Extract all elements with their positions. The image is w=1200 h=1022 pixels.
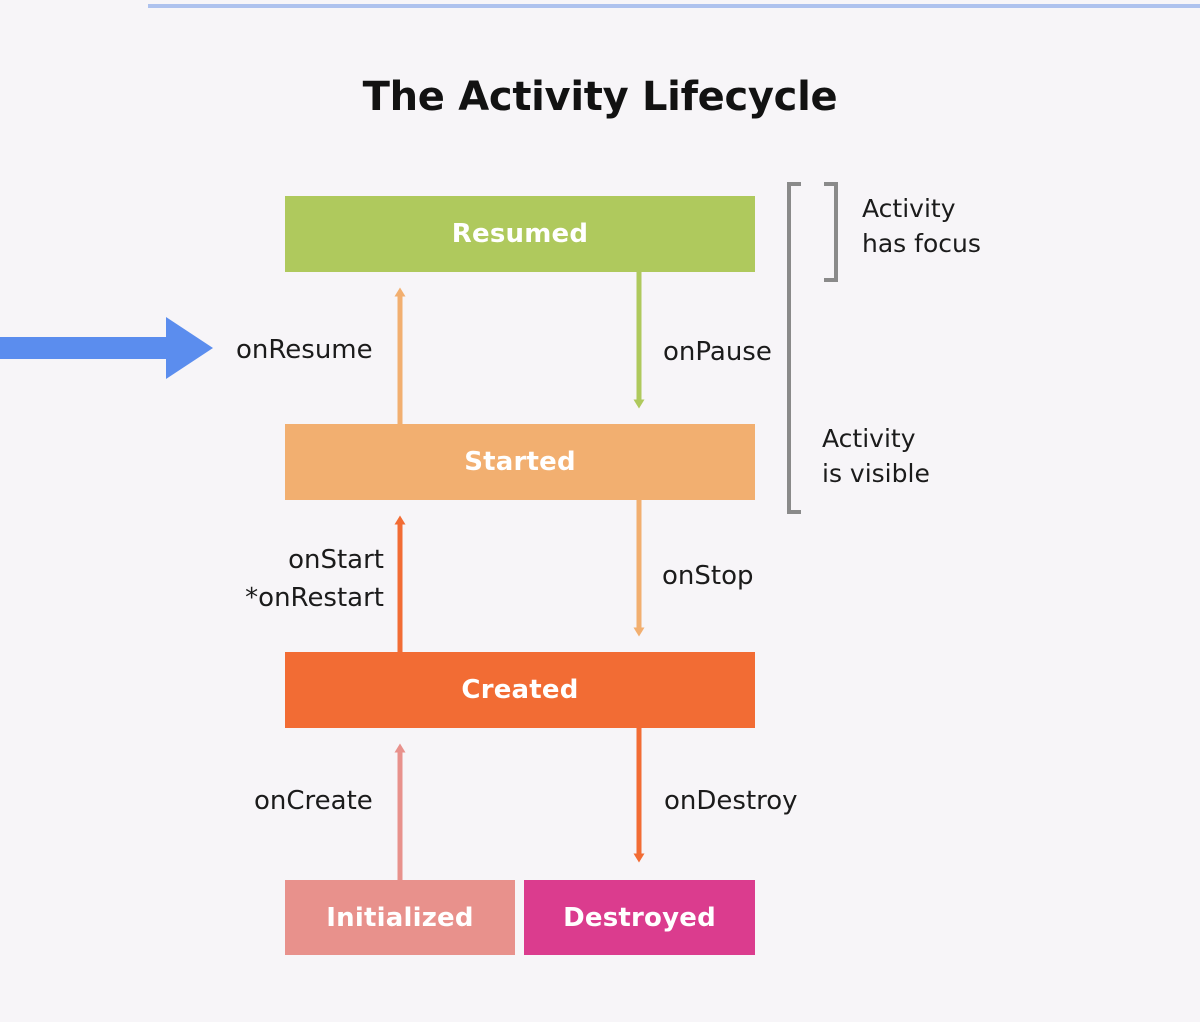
transition-label-onstart: onStart *onRestart: [232, 542, 384, 617]
state-box-initialized[interactable]: Initialized: [285, 880, 515, 955]
state-label-destroyed: Destroyed: [563, 903, 716, 933]
state-box-started[interactable]: Started: [285, 424, 755, 500]
state-label-resumed: Resumed: [452, 219, 588, 249]
bracket-activity-is-visible: [789, 184, 801, 512]
top-divider-rule: [148, 4, 1200, 8]
page-title: The Activity Lifecycle: [0, 74, 1200, 120]
state-box-destroyed[interactable]: Destroyed: [524, 880, 755, 955]
connectors-overlay: [0, 0, 1200, 1022]
transition-label-onstop: onStop: [662, 558, 754, 596]
transition-label-oncreate: onCreate: [254, 783, 373, 821]
diagram-canvas: The Activity Lifecycle: [0, 0, 1200, 1022]
transition-label-ondestroy: onDestroy: [664, 783, 798, 821]
bracket-label-activity-is-visible: Activity is visible: [822, 422, 930, 491]
bracket-label-activity-has-focus: Activity has focus: [862, 192, 981, 261]
transition-label-onpause: onPause: [663, 334, 772, 372]
state-box-resumed[interactable]: Resumed: [285, 196, 755, 272]
bracket-activity-has-focus: [824, 184, 836, 280]
state-label-created: Created: [461, 675, 578, 705]
blue-arrow-pointer: [0, 317, 213, 379]
transition-label-onresume: onResume: [236, 332, 373, 370]
state-box-created[interactable]: Created: [285, 652, 755, 728]
state-label-initialized: Initialized: [326, 903, 473, 933]
state-label-started: Started: [464, 447, 576, 477]
